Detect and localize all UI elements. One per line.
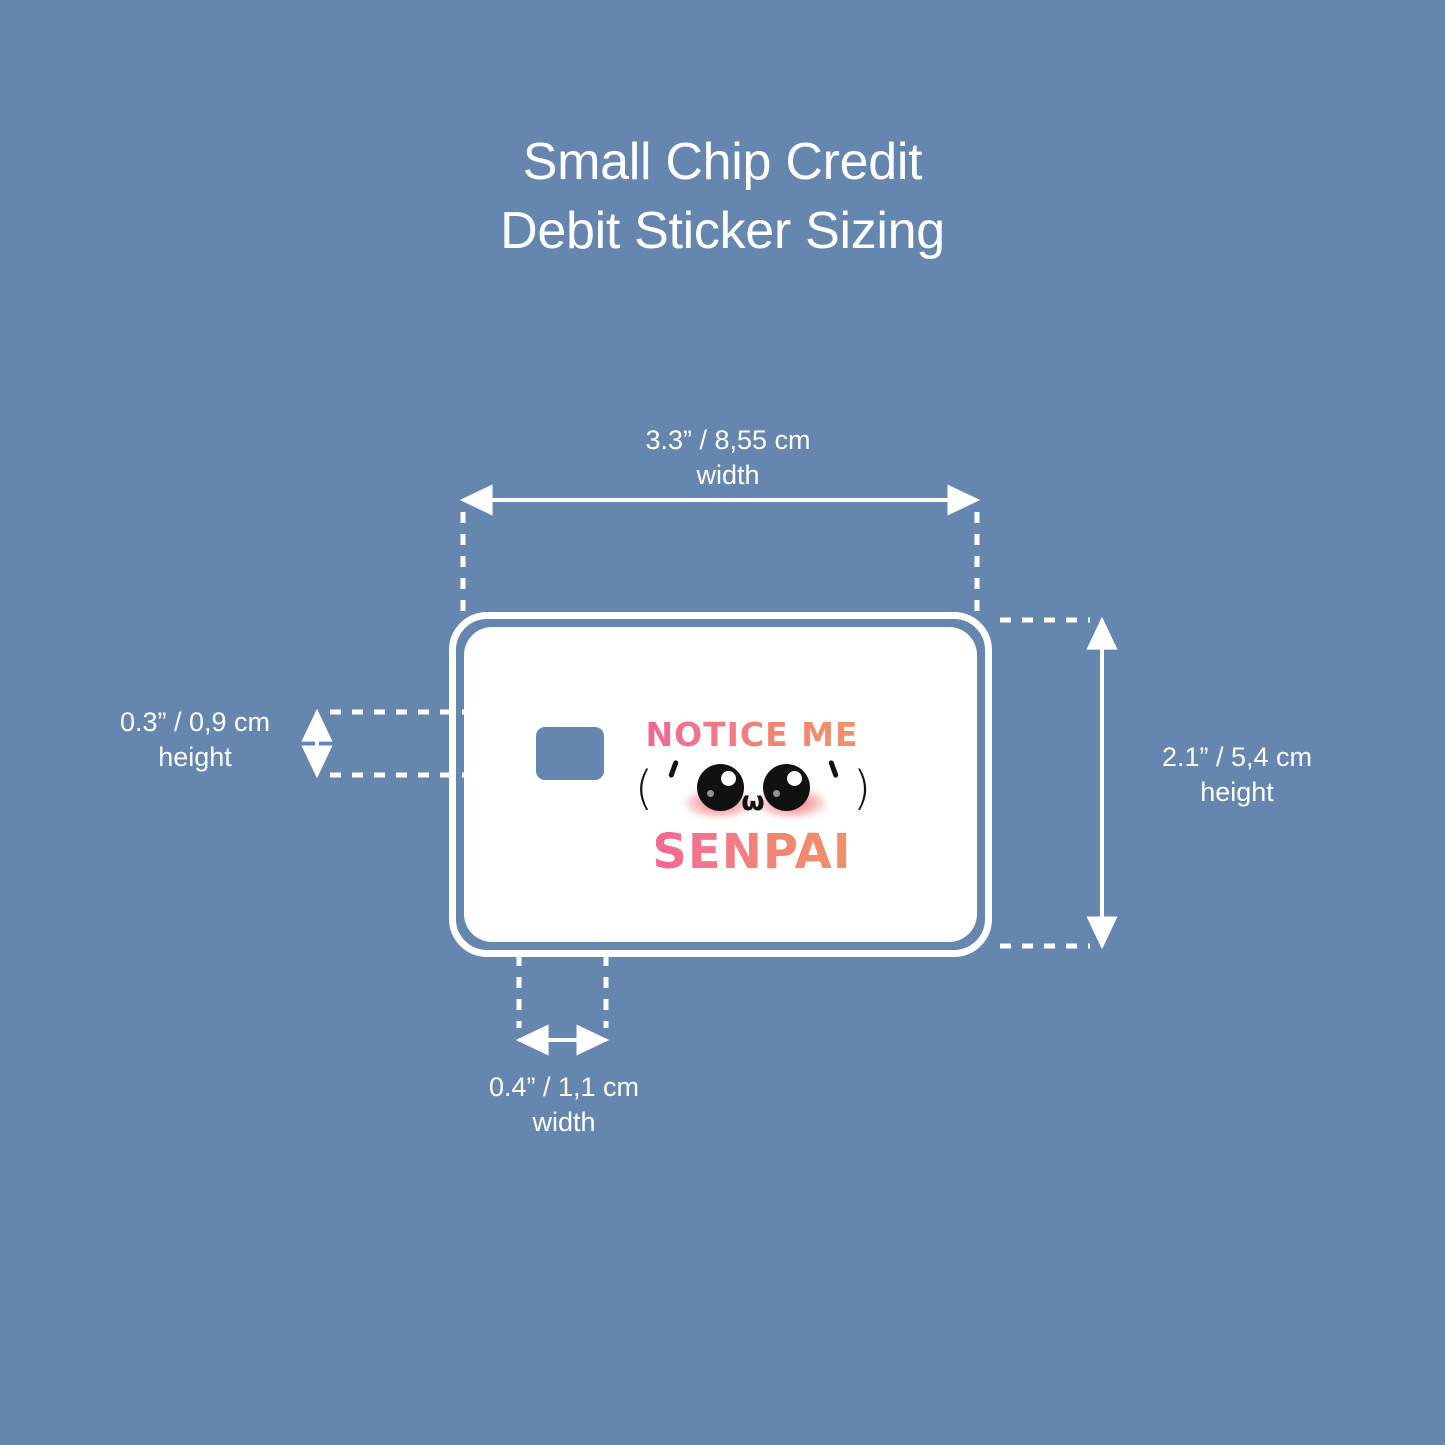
dimension-value-chip-height: 0.3” / 0,9 cm [120, 707, 270, 737]
guide-right-card-height [1000, 620, 1102, 946]
kaomoji-brow-left-icon [668, 760, 679, 779]
dimension-label-card-width: 3.3” / 8,55 cm width [528, 423, 928, 492]
dimension-unit-card-height: height [1122, 775, 1352, 810]
kaomoji-paren-left-icon: ( [635, 758, 653, 818]
dimension-unit-card-width: width [528, 458, 928, 493]
eye-highlight-large-icon [721, 771, 736, 786]
dimension-value-card-height: 2.1” / 5,4 cm [1162, 742, 1312, 772]
kaomoji-eye-right-icon [763, 764, 810, 811]
sticker-text-senpai: SENPAI [627, 824, 877, 880]
sizing-diagram-canvas: Small Chip Credit Debit Sticker Sizing [0, 0, 1445, 1445]
page-title-line-1: Small Chip Credit [0, 128, 1445, 197]
card-face: NOTICE ME ( ω ) [464, 627, 977, 942]
dimension-label-chip-width: 0.4” / 1,1 cm width [443, 1070, 685, 1139]
dimension-label-chip-height: 0.3” / 0,9 cm height [75, 705, 315, 774]
kaomoji-face: ( ω ) [627, 754, 877, 824]
page-title: Small Chip Credit Debit Sticker Sizing [0, 128, 1445, 265]
eye-highlight-small-icon [773, 790, 780, 797]
kaomoji-brow-right-icon [828, 760, 839, 779]
dimension-unit-chip-height: height [75, 740, 315, 775]
dimension-value-chip-width: 0.4” / 1,1 cm [489, 1072, 639, 1102]
guide-bottom-chip-width [519, 955, 606, 1040]
page-title-line-2: Debit Sticker Sizing [0, 197, 1445, 266]
eye-highlight-large-icon [787, 771, 802, 786]
dimension-label-card-height: 2.1” / 5,4 cm height [1122, 740, 1352, 809]
kaomoji-paren-right-icon: ) [853, 758, 871, 818]
guide-top-card-width [463, 500, 977, 612]
sticker-text-notice-me: NOTICE ME [627, 716, 877, 754]
sticker-artwork: NOTICE ME ( ω ) [627, 716, 877, 881]
dimension-value-card-width: 3.3” / 8,55 cm [645, 425, 810, 455]
chip-cutout [536, 727, 604, 780]
eye-highlight-small-icon [707, 790, 714, 797]
dimension-unit-chip-width: width [443, 1105, 685, 1140]
kaomoji-eye-left-icon [697, 764, 744, 811]
credit-card-sticker-preview: NOTICE ME ( ω ) [449, 612, 992, 957]
kaomoji-mouth-icon: ω [741, 790, 765, 814]
